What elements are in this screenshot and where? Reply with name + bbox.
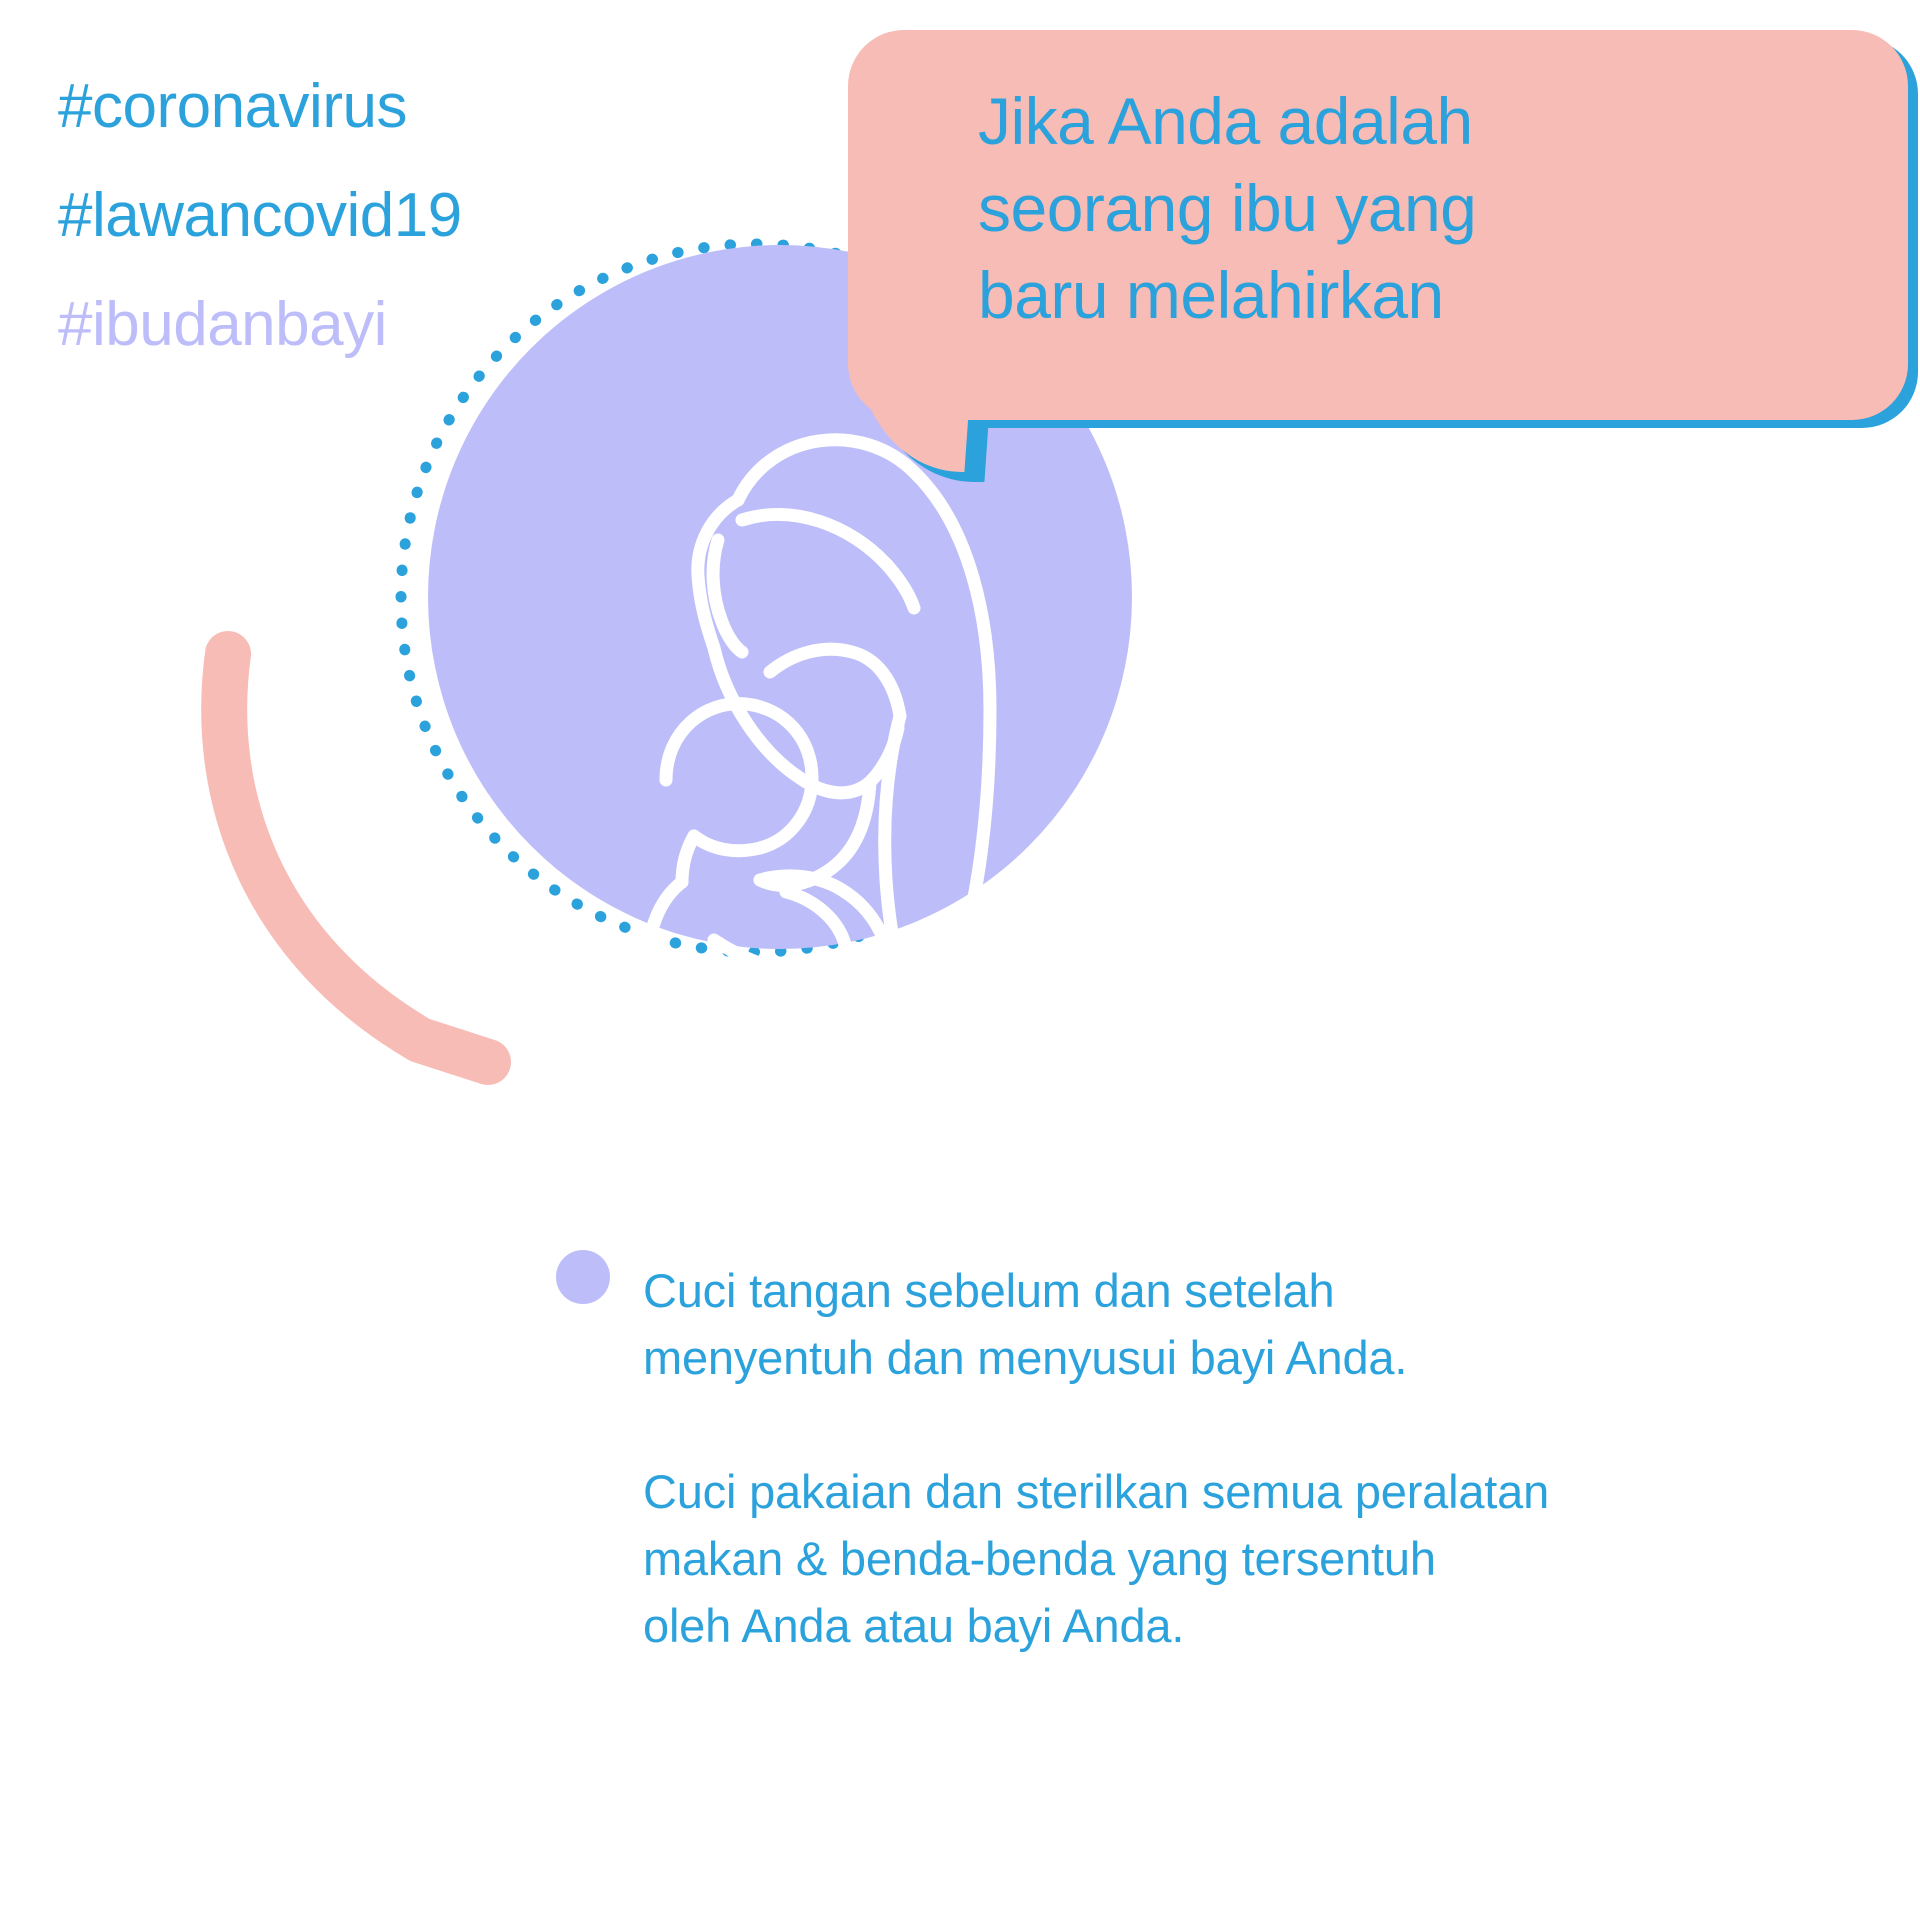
- tip-1-line-2: menyentuh dan menyusui bayi Anda.: [643, 1325, 1763, 1392]
- speech-bubble-text: Jika Anda adalah seorang ibu yang baru m…: [848, 30, 1908, 420]
- tip-2-line-3: oleh Anda atau bayi Anda.: [643, 1593, 1763, 1660]
- tip-2-line-2: makan & benda-benda yang tersentuh: [643, 1526, 1763, 1593]
- hashtag-coronavirus: #coronavirus: [58, 71, 462, 143]
- speech-bubble: Jika Anda adalah seorang ibu yang baru m…: [848, 22, 1920, 512]
- speech-bubble-line-3: baru melahirkan: [978, 252, 1854, 339]
- pink-arc-decoration: [170, 610, 590, 1110]
- tip-1-line-1: Cuci tangan sebelum dan setelah: [643, 1258, 1763, 1325]
- bullet-dot: [556, 1250, 610, 1304]
- speech-bubble-line-2: seorang ibu yang: [978, 165, 1854, 252]
- poster-canvas: #coronavirus #lawancovid19 #ibudanbayi: [0, 0, 1920, 1919]
- tips-list: Cuci tangan sebelum dan setelah menyentu…: [643, 1258, 1763, 1660]
- tip-item-2: Cuci pakaian dan sterilkan semua peralat…: [643, 1459, 1763, 1659]
- speech-bubble-line-1: Jika Anda adalah: [978, 78, 1854, 165]
- tip-item-1: Cuci tangan sebelum dan setelah menyentu…: [643, 1258, 1763, 1391]
- tip-2-line-1: Cuci pakaian dan sterilkan semua peralat…: [643, 1459, 1763, 1526]
